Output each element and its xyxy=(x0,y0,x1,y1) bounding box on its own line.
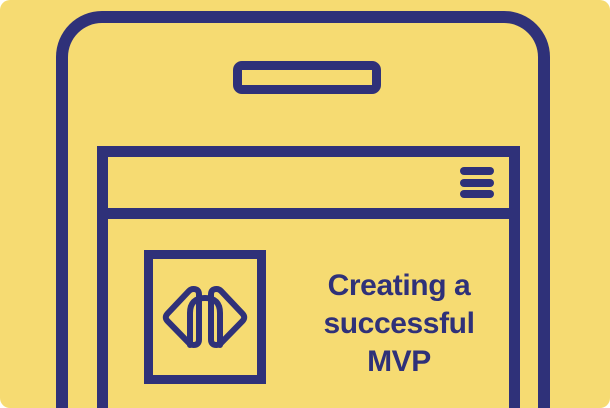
earpiece-speaker-icon xyxy=(233,61,381,94)
browser-content: Creating a successful MVP xyxy=(108,219,509,408)
browser-toolbar xyxy=(108,157,509,219)
double-arrow-butterfly-logo-icon xyxy=(159,284,251,350)
menu-bar-top xyxy=(460,167,494,175)
browser-window: Creating a successful MVP xyxy=(97,146,520,408)
menu-bar-bottom xyxy=(460,190,494,198)
hamburger-menu-icon[interactable] xyxy=(460,167,494,198)
logo-thumbnail-card[interactable] xyxy=(144,250,266,384)
article-headline: Creating a successful MVP xyxy=(294,267,504,381)
illustration-canvas: Creating a successful MVP xyxy=(0,0,610,408)
menu-bar-middle xyxy=(460,179,494,187)
